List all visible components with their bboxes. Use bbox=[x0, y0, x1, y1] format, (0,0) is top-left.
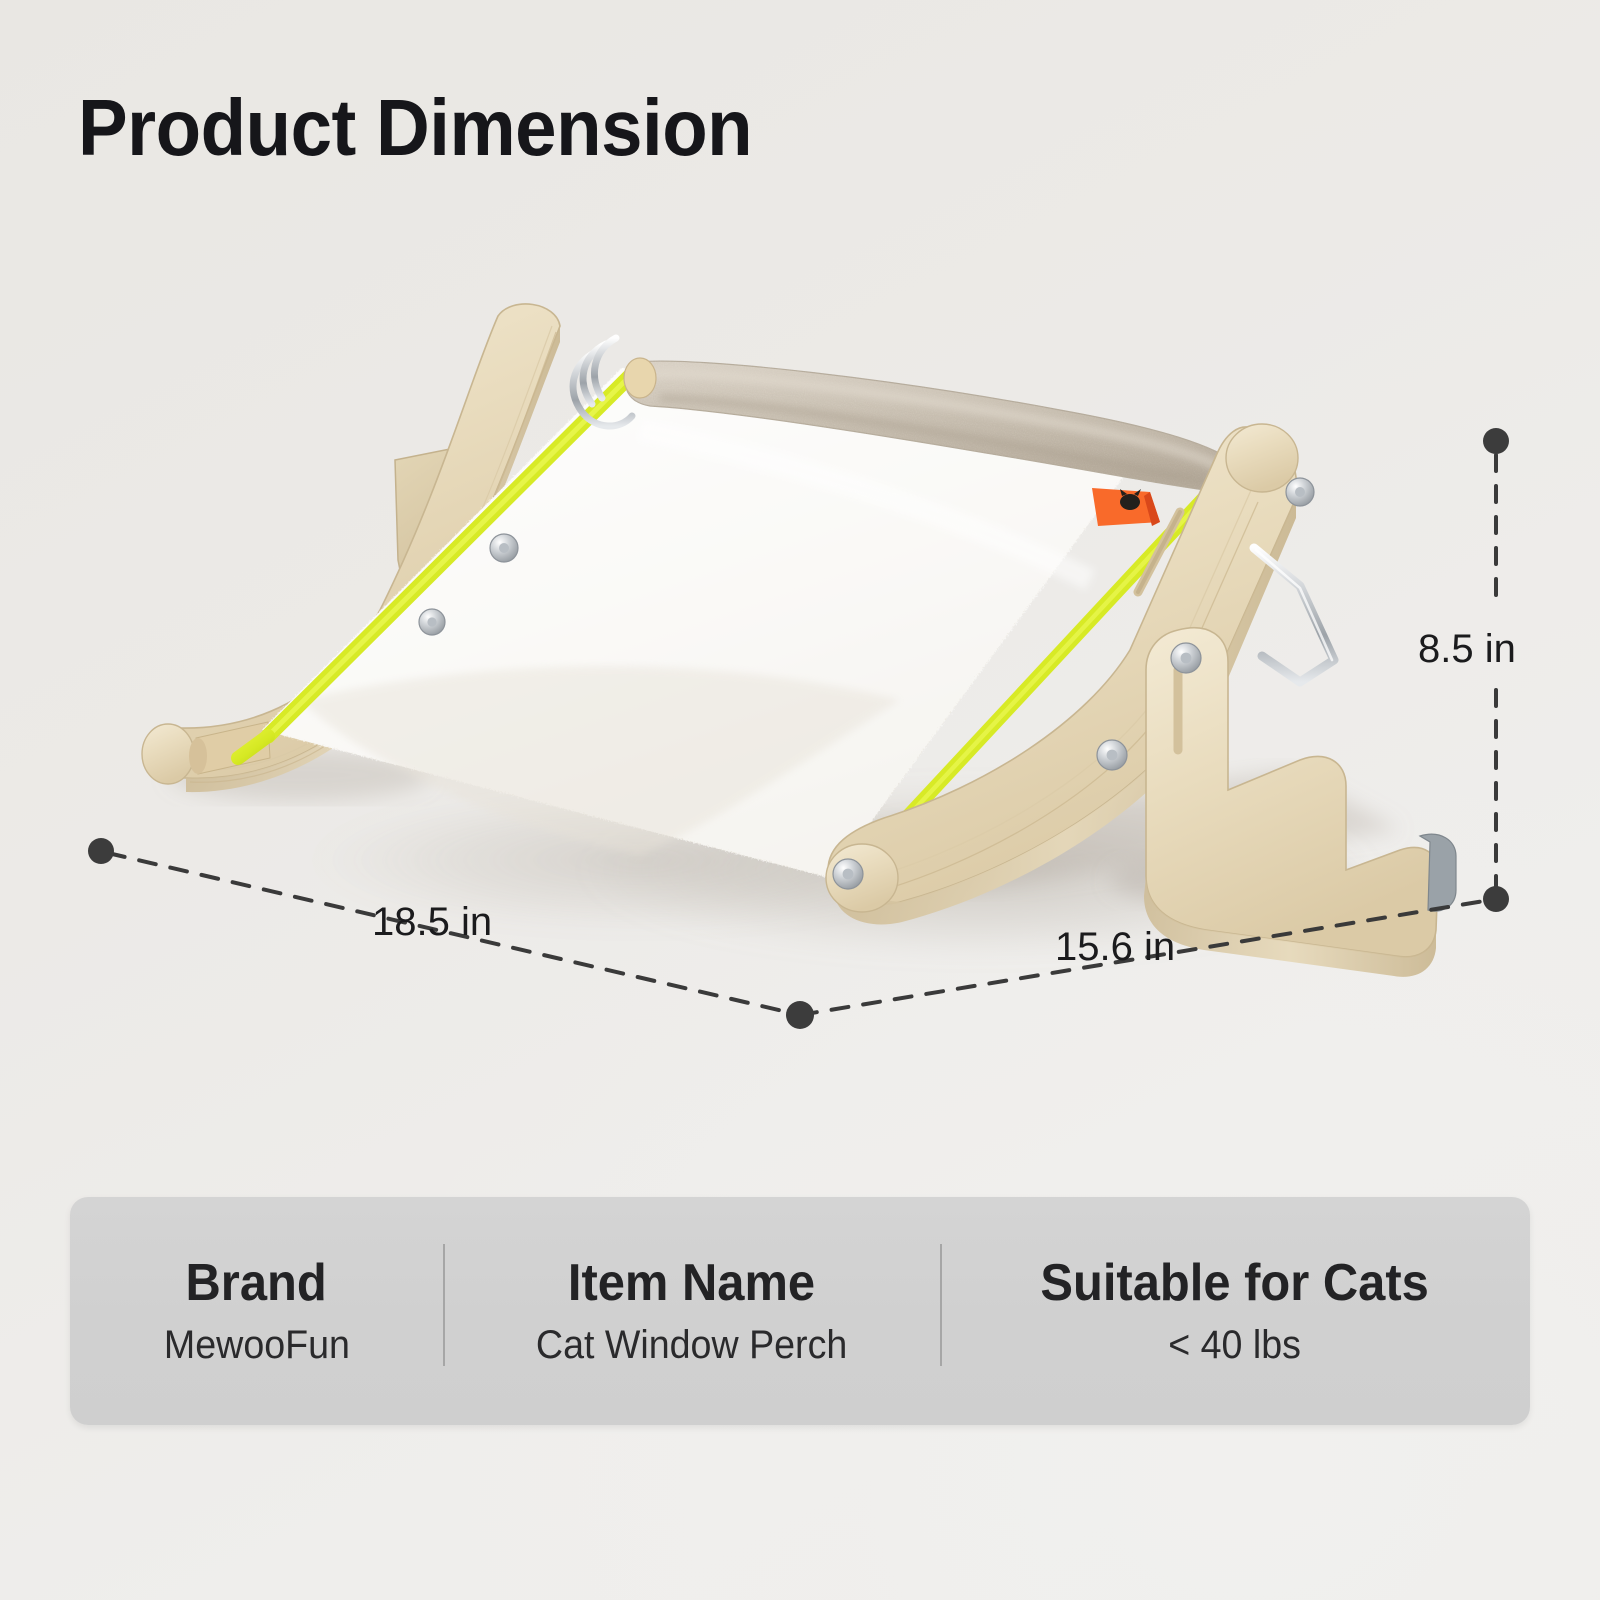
spec-heading-item-name: Item Name bbox=[568, 1257, 815, 1309]
spec-column-suitable-for-cats: Suitable for Cats < 40 lbs bbox=[940, 1257, 1530, 1365]
spec-column-item-name: Item Name Cat Window Perch bbox=[443, 1257, 940, 1365]
spec-value-brand: MewooFun bbox=[163, 1325, 349, 1365]
spec-divider-1 bbox=[443, 1244, 445, 1366]
spec-heading-suitable-for-cats: Suitable for Cats bbox=[1041, 1257, 1429, 1309]
height-dimension-label: 8.5 in bbox=[1418, 627, 1516, 672]
spec-panel: Brand MewooFun Item Name Cat Window Perc… bbox=[70, 1197, 1530, 1425]
product-illustration bbox=[0, 230, 1600, 1150]
pivot-dowel bbox=[624, 358, 656, 398]
spec-divider-2 bbox=[940, 1244, 942, 1366]
width-dimension-label: 18.5 in bbox=[372, 900, 492, 945]
spec-heading-brand: Brand bbox=[186, 1257, 327, 1309]
spec-value-item-name: Cat Window Perch bbox=[536, 1325, 847, 1365]
page-title: Product Dimension bbox=[78, 82, 752, 174]
spec-column-brand: Brand MewooFun bbox=[70, 1257, 443, 1365]
spec-value-suitable-for-cats: < 40 lbs bbox=[1169, 1325, 1302, 1365]
product-photo bbox=[0, 230, 1600, 1150]
depth-dimension-label: 15.6 in bbox=[1055, 925, 1175, 970]
brand-tag bbox=[1092, 488, 1160, 526]
